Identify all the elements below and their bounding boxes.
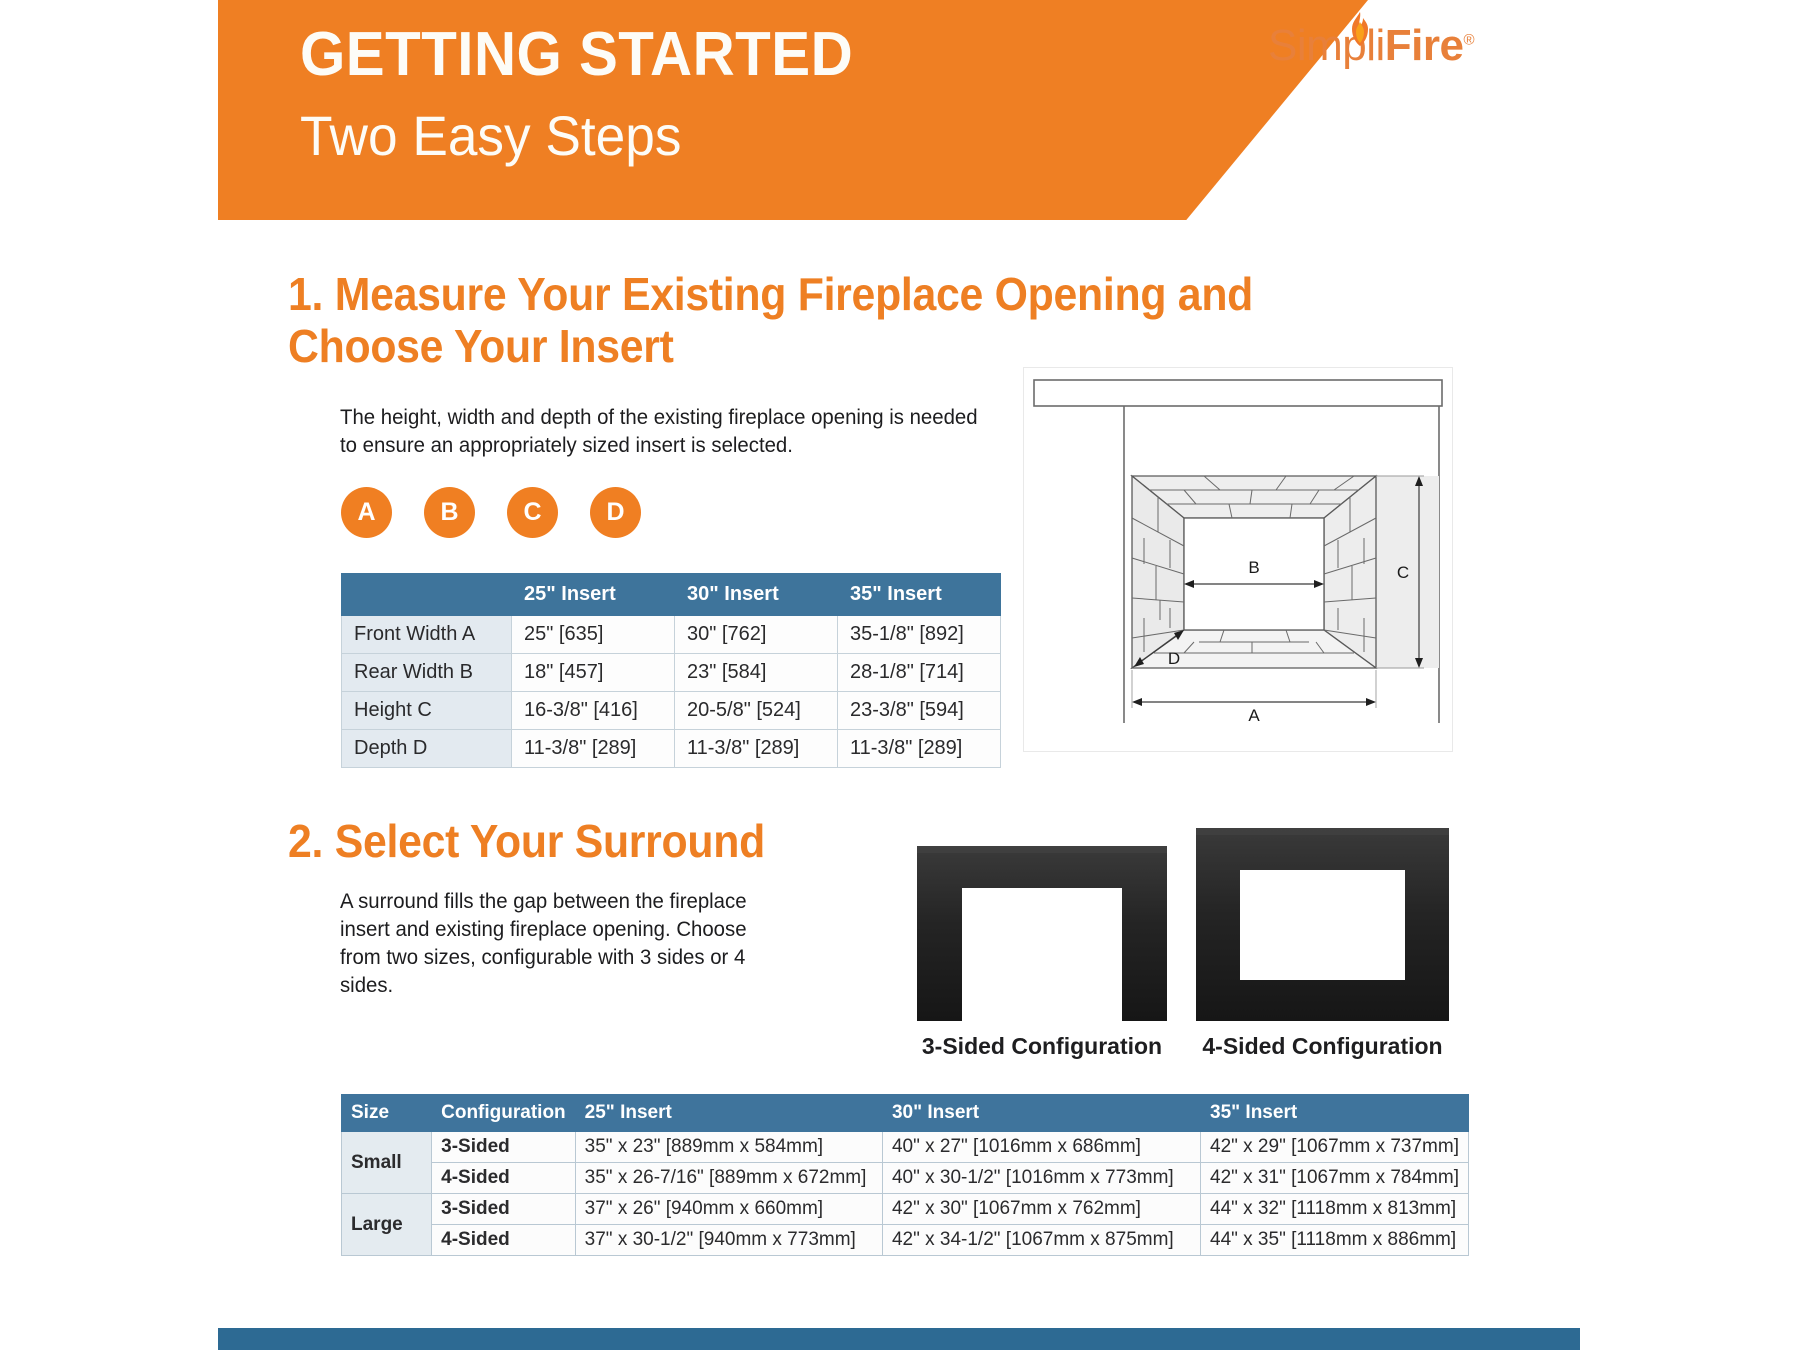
surround-3-sided-image <box>917 846 1167 1021</box>
cell-front-width-25: 25" [635] <box>512 616 675 654</box>
cell-depth-30: 11-3/8" [289] <box>675 730 838 768</box>
section-2-body: A surround fills the gap between the fir… <box>340 888 747 1000</box>
footer-bar <box>218 1328 1580 1350</box>
flame-icon <box>1347 12 1373 46</box>
cell-front-width-35: 35-1/8" [892] <box>838 616 1001 654</box>
cell-height-25: 16-3/8" [416] <box>512 692 675 730</box>
col-header-25: 25" Insert <box>575 1095 882 1132</box>
marker-d: D <box>590 487 641 538</box>
col-header-30: 30" Insert <box>882 1095 1200 1132</box>
config-small-3sided: 3-Sided <box>432 1132 576 1163</box>
diagram-label-a: A <box>1248 706 1260 725</box>
fireplace-diagram: B D C A <box>1023 367 1453 752</box>
config-large-3sided: 3-Sided <box>432 1194 576 1225</box>
config-large-4sided: 4-Sided <box>432 1225 576 1256</box>
page-title: GETTING STARTED <box>300 24 853 86</box>
dimension-markers: A B C D <box>341 487 641 538</box>
col-header-35: 35" Insert <box>838 574 1001 616</box>
page-subtitle: Two Easy Steps <box>300 108 681 164</box>
section-1-heading: 1. Measure Your Existing Fireplace Openi… <box>288 268 1330 373</box>
diagram-label-d: D <box>1168 649 1180 668</box>
cell-large-4sided-25: 37" x 30-1/2" [940mm x 773mm] <box>575 1225 882 1256</box>
diagram-label-c: C <box>1397 563 1409 582</box>
row-label-rear-width: Rear Width B <box>342 654 512 692</box>
table-row: Small 3-Sided 35" x 23" [889mm x 584mm] … <box>342 1132 1469 1163</box>
cell-small-3sided-35: 42" x 29" [1067mm x 737mm] <box>1201 1132 1469 1163</box>
col-header-35: 35" Insert <box>1201 1095 1469 1132</box>
cell-small-4sided-25: 35" x 26-7/16" [889mm x 672mm] <box>575 1163 882 1194</box>
cell-rear-width-30: 23" [584] <box>675 654 838 692</box>
cell-small-4sided-35: 42" x 31" [1067mm x 784mm] <box>1201 1163 1469 1194</box>
marker-a: A <box>341 487 392 538</box>
table-row: Height C 16-3/8" [416] 20-5/8" [524] 23-… <box>342 692 1001 730</box>
table-row: Rear Width B 18" [457] 23" [584] 28-1/8"… <box>342 654 1001 692</box>
row-label-front-width: Front Width A <box>342 616 512 654</box>
surround-4-sided-image <box>1196 828 1449 1021</box>
cell-small-3sided-25: 35" x 23" [889mm x 584mm] <box>575 1132 882 1163</box>
surround-4-sided-caption: 4-Sided Configuration <box>1196 1033 1449 1060</box>
marker-b: B <box>424 487 475 538</box>
cell-large-3sided-35: 44" x 32" [1118mm x 813mm] <box>1201 1194 1469 1225</box>
diagram-label-b: B <box>1248 558 1259 577</box>
cell-depth-25: 11-3/8" [289] <box>512 730 675 768</box>
cell-front-width-30: 30" [762] <box>675 616 838 654</box>
table-row: Front Width A 25" [635] 30" [762] 35-1/8… <box>342 616 1001 654</box>
cell-large-3sided-25: 37" x 26" [940mm x 660mm] <box>575 1194 882 1225</box>
size-large: Large <box>342 1194 432 1256</box>
fireplace-diagram-svg: B D C A <box>1024 368 1452 751</box>
col-header-blank <box>342 574 512 616</box>
table-header-row: Size Configuration 25" Insert 30" Insert… <box>342 1095 1469 1132</box>
marker-c: C <box>507 487 558 538</box>
cell-rear-width-25: 18" [457] <box>512 654 675 692</box>
cell-large-4sided-30: 42" x 34-1/2" [1067mm x 875mm] <box>882 1225 1200 1256</box>
size-small: Small <box>342 1132 432 1194</box>
row-label-depth: Depth D <box>342 730 512 768</box>
page-root: GETTING STARTED Two Easy Steps SimpliFir… <box>0 0 1800 1350</box>
surround-sizes-table: Size Configuration 25" Insert 30" Insert… <box>341 1094 1469 1256</box>
config-small-4sided: 4-Sided <box>432 1163 576 1194</box>
insert-dimensions-table: 25" Insert 30" Insert 35" Insert Front W… <box>341 573 1001 768</box>
col-header-25: 25" Insert <box>512 574 675 616</box>
col-header-30: 30" Insert <box>675 574 838 616</box>
table-row: 4-Sided 37" x 30-1/2" [940mm x 773mm] 42… <box>342 1225 1469 1256</box>
cell-depth-35: 11-3/8" [289] <box>838 730 1001 768</box>
table-header-row: 25" Insert 30" Insert 35" Insert <box>342 574 1001 616</box>
surround-3-sided-caption: 3-Sided Configuration <box>917 1033 1167 1060</box>
section-1-body: The height, width and depth of the exist… <box>340 404 980 460</box>
cell-small-4sided-30: 40" x 30-1/2" [1016mm x 773mm] <box>882 1163 1200 1194</box>
table-row: 4-Sided 35" x 26-7/16" [889mm x 672mm] 4… <box>342 1163 1469 1194</box>
table-row: Large 3-Sided 37" x 26" [940mm x 660mm] … <box>342 1194 1469 1225</box>
row-label-height: Height C <box>342 692 512 730</box>
col-header-size: Size <box>342 1095 432 1132</box>
cell-height-35: 23-3/8" [594] <box>838 692 1001 730</box>
col-header-configuration: Configuration <box>432 1095 576 1132</box>
cell-large-4sided-35: 44" x 35" [1118mm x 886mm] <box>1201 1225 1469 1256</box>
brand-logo-registered: ® <box>1464 31 1475 48</box>
cell-height-30: 20-5/8" [524] <box>675 692 838 730</box>
cell-rear-width-35: 28-1/8" [714] <box>838 654 1001 692</box>
brand-logo-fire: Fire <box>1385 21 1464 70</box>
cell-large-3sided-30: 42" x 30" [1067mm x 762mm] <box>882 1194 1200 1225</box>
table-row: Depth D 11-3/8" [289] 11-3/8" [289] 11-3… <box>342 730 1001 768</box>
cell-small-3sided-30: 40" x 27" [1016mm x 686mm] <box>882 1132 1200 1163</box>
